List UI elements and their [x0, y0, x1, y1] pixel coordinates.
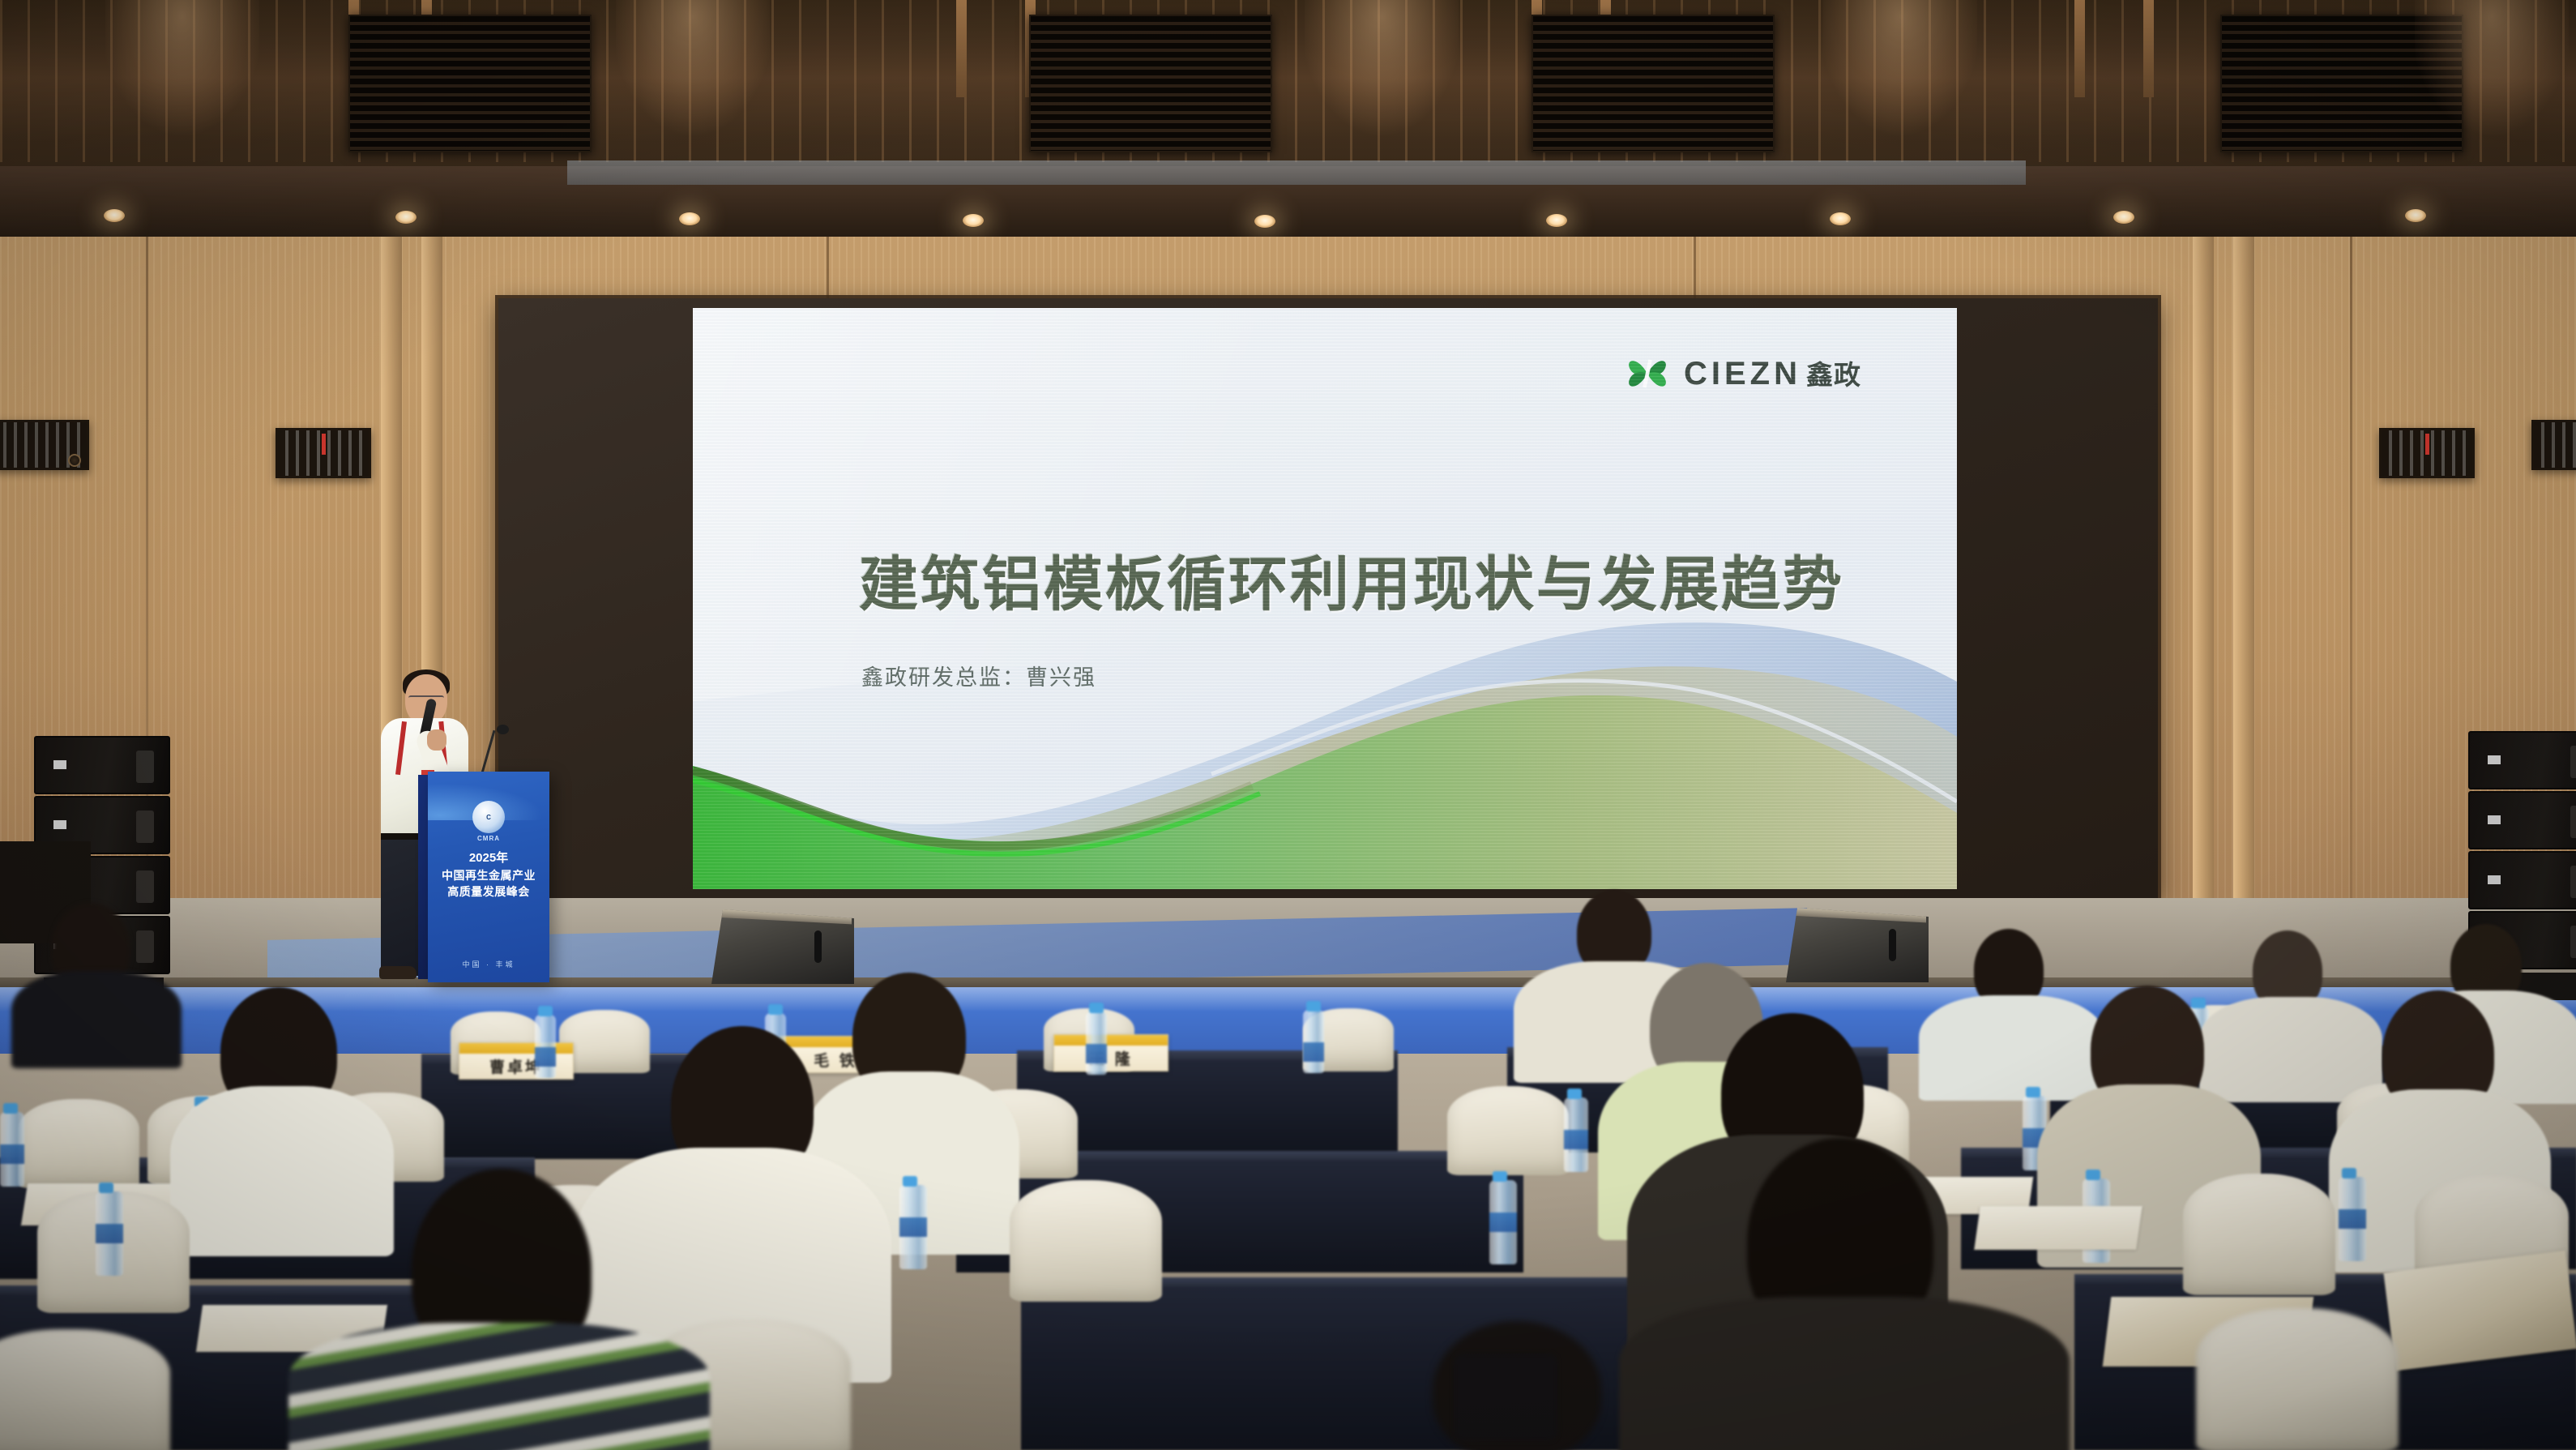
name-placard: 王 隆 — [1053, 1034, 1168, 1071]
wall-air-vent — [276, 428, 371, 478]
ceiling-light-pool — [616, 0, 770, 162]
line-array-module — [2468, 851, 2576, 909]
line-array-module — [2468, 731, 2576, 789]
chair — [18, 1099, 139, 1188]
placard-name: 曹卓坤 — [459, 1055, 573, 1077]
ciezn-pinwheel-logo-icon — [1624, 350, 1671, 397]
presentation-slide: CIEZN 鑫政 建筑铝模板循环利用现状与发展趋势 鑫政研发总监：曹兴强 — [693, 308, 1957, 889]
floor-bag — [1454, 1354, 1557, 1441]
water-bottle — [1564, 1097, 1588, 1172]
name-placard: 曹卓坤 — [459, 1042, 574, 1080]
attendee-body-striped-polo — [288, 1323, 710, 1450]
ceiling-light-pool — [105, 0, 259, 162]
ceiling-beam — [2074, 0, 2085, 97]
ceiling-downlight — [1830, 212, 1851, 225]
wall-air-vent — [2531, 420, 2576, 470]
water-bottle — [1489, 1180, 1517, 1264]
conference-hall-photo: CIEZN 鑫政 建筑铝模板循环利用现状与发展趋势 鑫政研发总监：曹兴强 — [0, 0, 2576, 1450]
slide-title: 建筑铝模板循环利用现状与发展趋势 — [859, 537, 1844, 622]
podium: C CMRA 2025年 中国再生金属产业 高质量发展峰会 中国 · 丰城 — [428, 772, 549, 982]
wall-air-vent — [2379, 428, 2475, 478]
stage-monitor-right — [1786, 908, 1929, 982]
chair — [2183, 1174, 2335, 1295]
water-bottle — [96, 1191, 123, 1276]
wall-sensor-dot — [68, 454, 81, 467]
attendee-body — [1619, 1297, 2070, 1450]
ceiling-downlight — [2113, 211, 2134, 224]
ciezn-logo-chinese: 鑫政 — [1806, 361, 1861, 388]
line-array-module — [34, 736, 170, 794]
ceiling-air-grille — [348, 15, 592, 152]
led-screen-frame: CIEZN 鑫政 建筑铝模板循环利用现状与发展趋势 鑫政研发总监：曹兴强 — [498, 298, 2158, 898]
vent-red-ribbon — [2425, 434, 2429, 455]
ceiling-air-grille — [1029, 15, 1272, 152]
cmra-logo-icon: C — [472, 801, 505, 833]
ceiling-downlight — [2405, 209, 2426, 222]
ceiling-air-grille — [1532, 15, 1775, 152]
chair — [0, 1329, 170, 1450]
ciezn-logo: CIEZN 鑫政 — [1624, 350, 1861, 397]
attendee-body — [11, 971, 182, 1068]
vent-red-ribbon — [322, 434, 326, 455]
ceiling-metal-trim — [567, 160, 2026, 185]
chair — [1010, 1180, 1162, 1302]
cmra-badge-inner: C — [486, 814, 491, 821]
ceiling-beam — [956, 0, 967, 97]
wall-panel-seam — [2350, 237, 2352, 950]
ceiling-downlight — [395, 211, 417, 224]
ciezn-logo-text: CIEZN 鑫政 — [1684, 357, 1861, 390]
ceiling-downlight — [1254, 215, 1275, 228]
water-bottle — [0, 1112, 24, 1187]
podium-line-year: 2025年 — [428, 849, 549, 867]
ciezn-logo-latin: CIEZN — [1684, 357, 1801, 390]
podium-line-three: 高质量发展峰会 — [428, 883, 549, 900]
podium-line-two: 中国再生金属产业 — [428, 867, 549, 883]
attendee-body — [2199, 997, 2382, 1102]
water-bottle — [899, 1185, 927, 1269]
attendee-body — [1919, 995, 2105, 1101]
ceiling-beam — [2143, 0, 2154, 97]
water-bottle — [535, 1015, 556, 1078]
water-bottle — [1086, 1012, 1107, 1075]
ceiling — [0, 0, 2576, 243]
attendee-body — [170, 1086, 394, 1256]
ceiling-light-pool — [1823, 0, 1977, 162]
ceiling-light-pool — [2415, 0, 2569, 162]
slide-wave-graphic — [693, 622, 1957, 889]
water-bottle — [2339, 1177, 2366, 1261]
microphone-icon — [497, 725, 509, 734]
water-bottle — [1303, 1010, 1324, 1073]
podium-title-block: 2025年 中国再生金属产业 高质量发展峰会 — [428, 849, 549, 900]
line-array-module — [2468, 791, 2576, 849]
chair — [1447, 1086, 1569, 1175]
ceiling-downlight — [679, 212, 700, 225]
cmra-label: CMRA — [428, 835, 549, 842]
presenter-hand — [427, 729, 446, 751]
ceiling-light-pool — [1305, 0, 1459, 162]
chair — [2196, 1308, 2399, 1450]
wall-pilaster — [2193, 237, 2214, 950]
ceiling-downlight — [963, 214, 984, 227]
wall-pilaster — [2233, 237, 2254, 950]
ceiling-downlight — [104, 209, 125, 222]
stage-monitor-left — [711, 909, 854, 984]
placard-name: 王 隆 — [1054, 1047, 1168, 1069]
notepad — [1974, 1206, 2142, 1250]
podium-footer-location: 中国 · 丰城 — [428, 959, 549, 969]
ceiling-downlight — [1546, 214, 1567, 227]
presenter-shoe — [379, 966, 417, 979]
